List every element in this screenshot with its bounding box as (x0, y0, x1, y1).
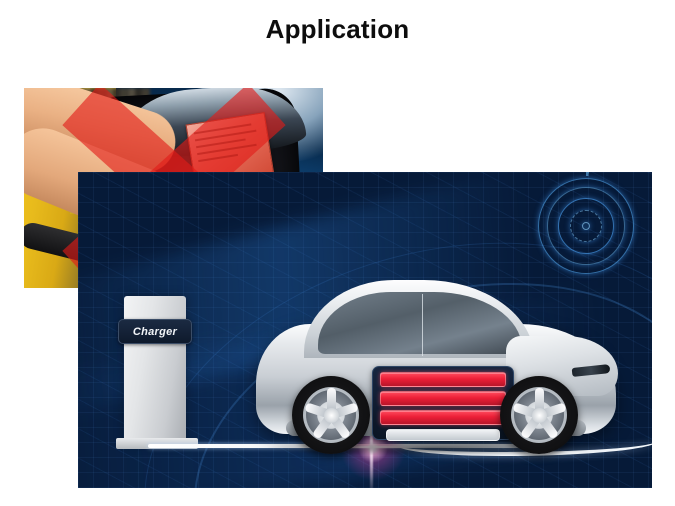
slide-canvas: Application (0, 0, 675, 506)
car-door-pillar (422, 294, 423, 356)
battery-cell (380, 410, 506, 425)
battery-pack-panel (372, 366, 514, 440)
wheel-hub (324, 408, 339, 423)
charger-label-badge: Charger (118, 319, 192, 344)
battery-cell (380, 391, 506, 406)
hud-tick-ring (530, 172, 642, 282)
car-wheel-front (500, 376, 578, 454)
wheel-rim (303, 387, 359, 443)
battery-busbar (386, 429, 500, 441)
wheel-hub (532, 408, 547, 423)
car-wheel-rear (292, 376, 370, 454)
wheel-rim (511, 387, 567, 443)
hud-target-icon (538, 178, 634, 274)
battery-cell (380, 372, 506, 387)
electric-car-graphic (256, 280, 616, 460)
page-title: Application (0, 14, 675, 45)
ev-charging-illustration: Charger (78, 172, 652, 488)
charger-label-text: Charger (133, 326, 177, 338)
